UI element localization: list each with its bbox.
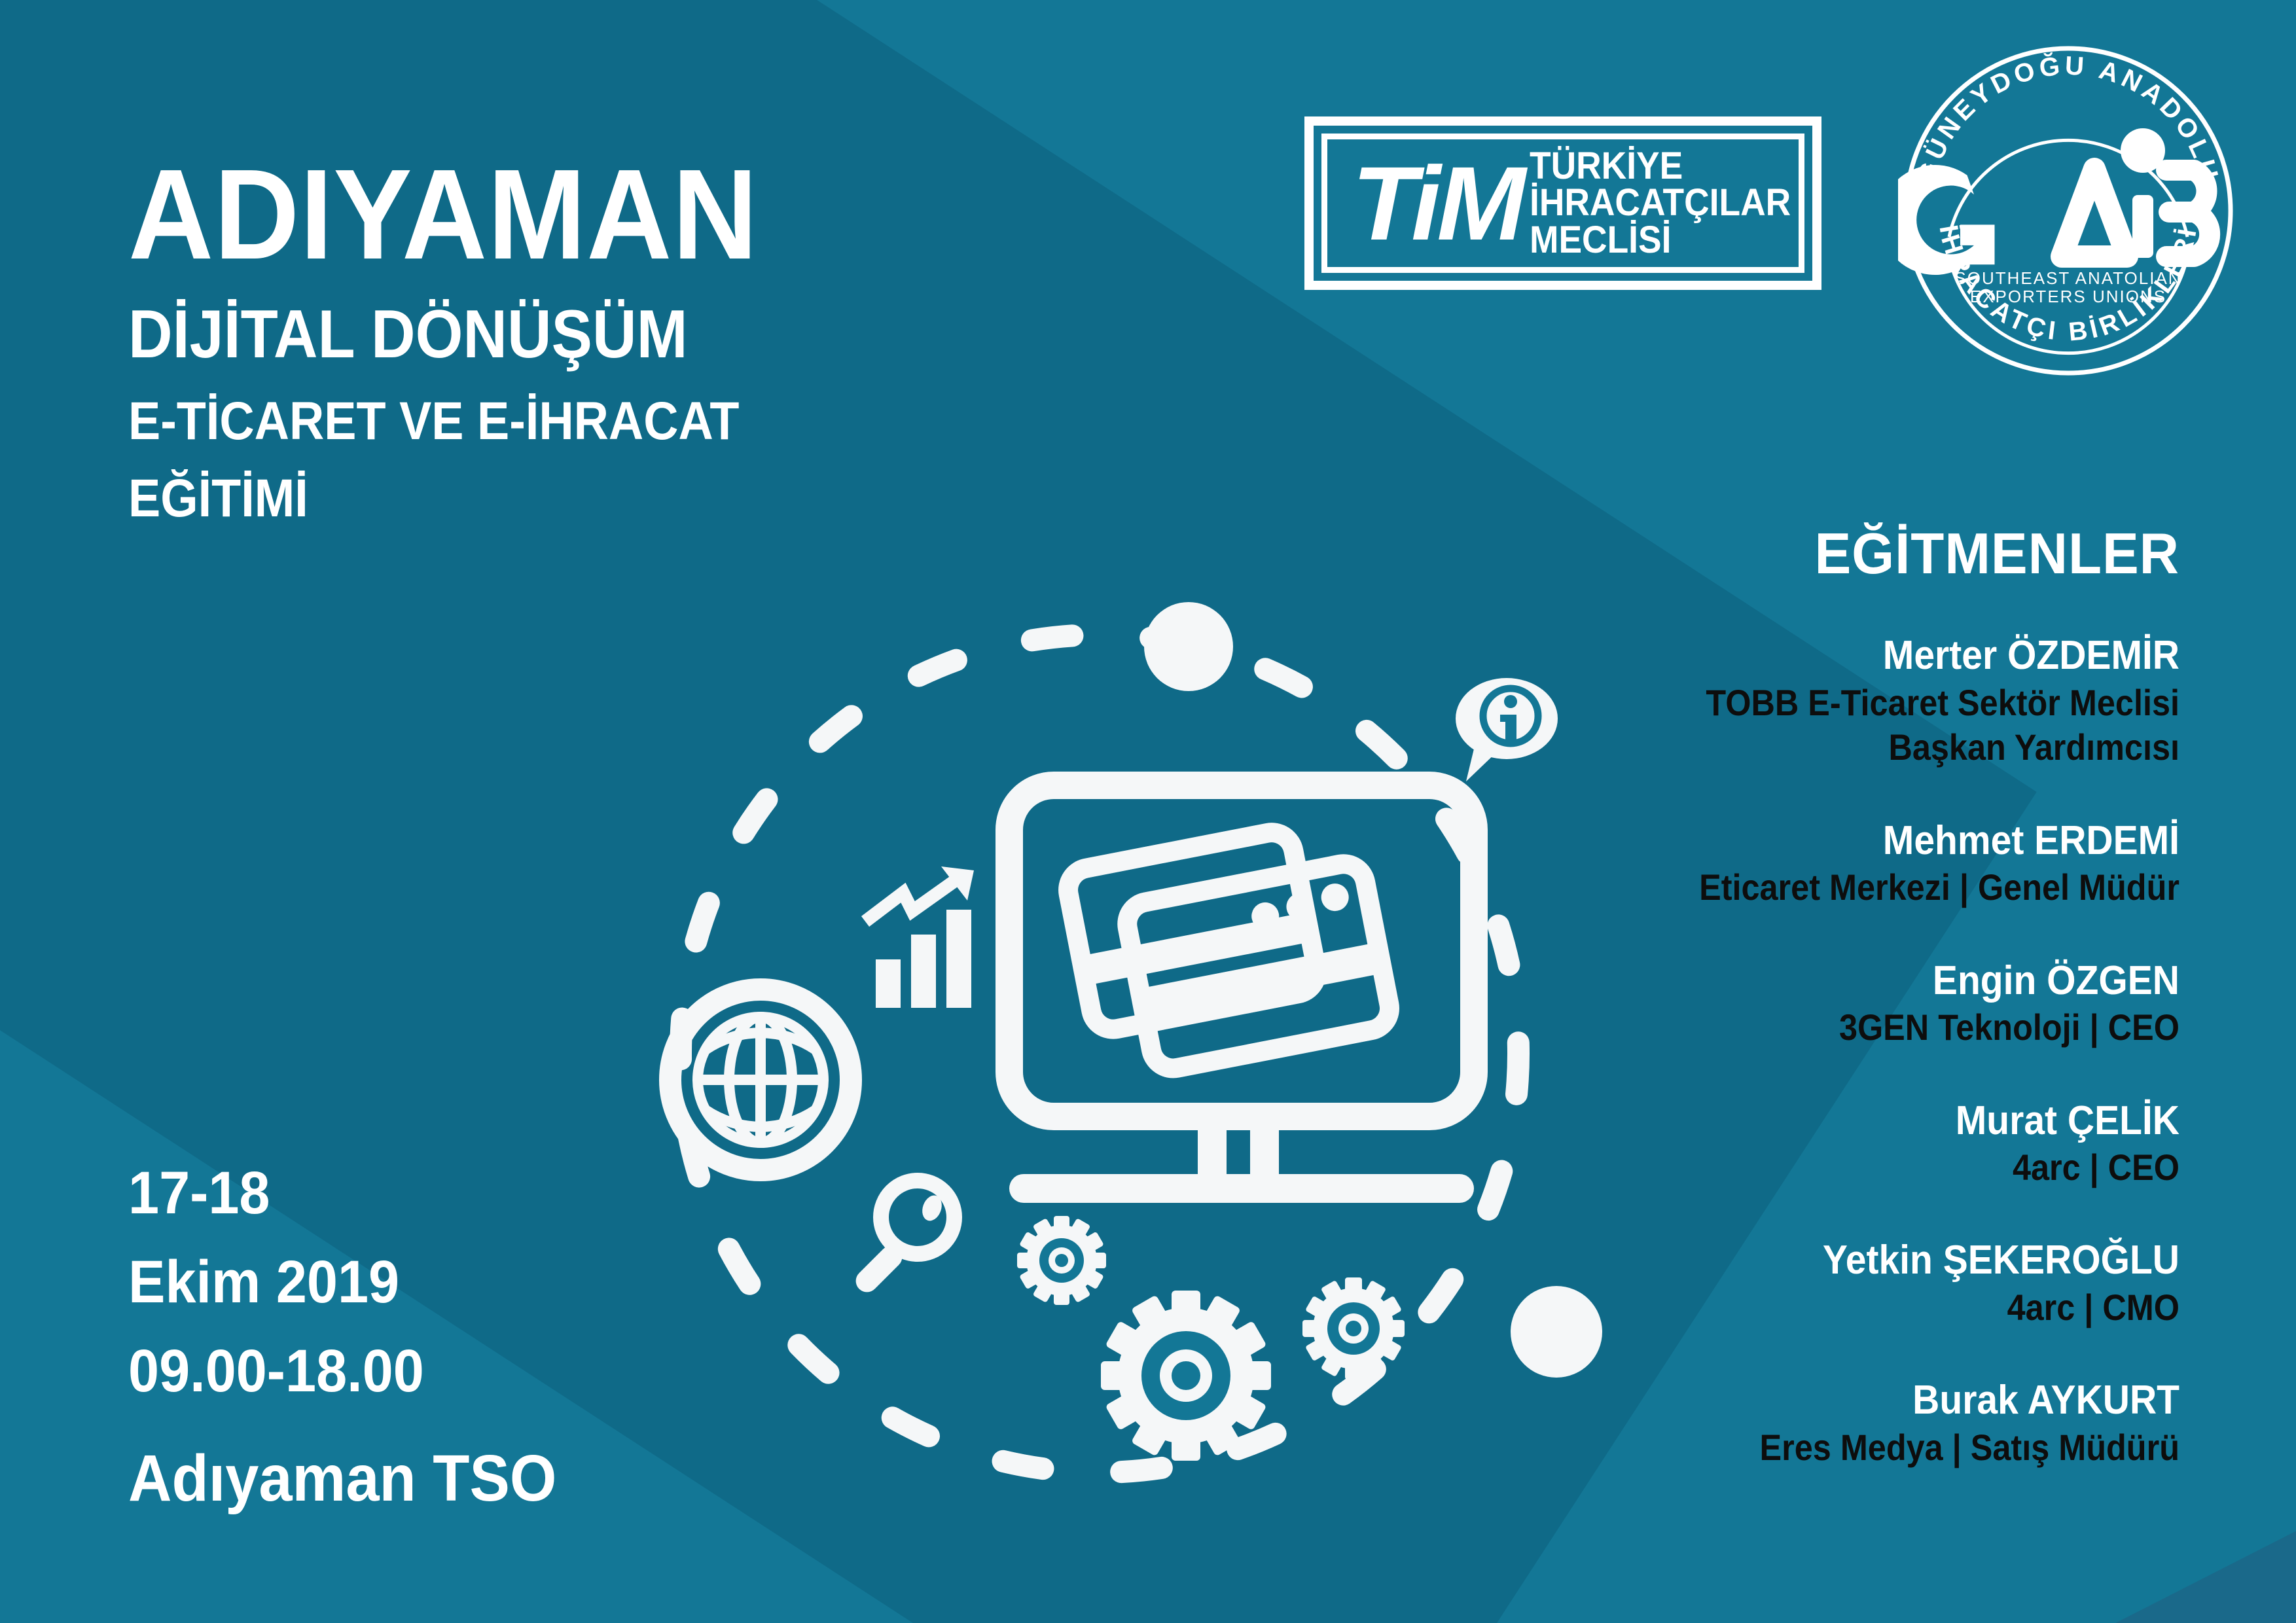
gear-small-icon	[1017, 1216, 1106, 1305]
trainer-role-line-1: 4arc | CEO	[1567, 1145, 2179, 1190]
trainers-section: EĞİTMENLER Merter ÖZDEMİR TOBB E-Ticaret…	[1499, 524, 2179, 1516]
headline-block: ADIYAMAN DİJİTAL DÖNÜŞÜM E-TİCARET VE E-…	[128, 152, 813, 526]
page-title: ADIYAMAN	[128, 152, 758, 277]
trainer-item: Mehmet ERDEMİ Eticaret Merkezi | Genel M…	[1499, 816, 2179, 910]
trainer-name: Engin ÖZGEN	[1553, 956, 2179, 1006]
event-days: 17-18	[128, 1149, 556, 1238]
globe-icon	[670, 990, 851, 1170]
tim-line-3: MECLİSİ	[1530, 222, 1791, 259]
trainer-name: Yetkin ŞEKEROĞLU	[1553, 1236, 2179, 1285]
illustration-block	[622, 556, 1604, 1538]
gaib-center-line-1: SOUTHEAST ANATOLIAN	[1954, 268, 2181, 288]
trainer-name: Murat ÇELİK	[1553, 1096, 2179, 1146]
trainer-item: Murat ÇELİK 4arc | CEO	[1499, 1096, 2179, 1190]
event-info-block: 17-18 Ekim 2019 09.00-18.00 Adıyaman TSO	[128, 1149, 594, 1527]
trainer-role-line-1: 3GEN Teknoloji | CEO	[1567, 1005, 2179, 1050]
trainer-item: Engin ÖZGEN 3GEN Teknoloji | CEO	[1499, 956, 2179, 1050]
trainer-role-line-1: Eres Medya | Satış Müdürü	[1567, 1425, 2179, 1470]
gaib-center-line-2: EXPORTERS UNIONS	[1970, 287, 2166, 306]
headline-subtitle-2: E-TİCARET VE E-İHRACAT	[128, 394, 745, 449]
event-poster: ADIYAMAN DİJİTAL DÖNÜŞÜM E-TİCARET VE E-…	[0, 0, 2296, 1623]
tim-wordmark-icon: TiM	[1352, 151, 1522, 256]
trainer-name: Burak AYKURT	[1553, 1376, 2179, 1425]
event-hours: 09.00-18.00	[128, 1327, 556, 1416]
trainer-role-line-1: Eticaret Merkezi | Genel Müdür	[1567, 865, 2179, 910]
trainer-role-line-1: TOBB E-Ticaret Sektör Meclisi	[1567, 681, 2179, 725]
growth-chart-icon	[865, 866, 974, 1008]
trainer-role-line-2: Başkan Yardımcısı	[1567, 725, 2179, 770]
event-venue: Adıyaman TSO	[128, 1430, 556, 1527]
trainers-heading: EĞİTMENLER	[1533, 524, 2179, 584]
trainer-role-line-1: 4arc | CMO	[1567, 1285, 2179, 1330]
gaib-logo: GÜNEYDOĞU ANADOLU İHRACATÇI BİRLİKLERİ S…	[1898, 41, 2238, 381]
tim-logo: TiM TÜRKİYE İHRACATÇILAR MECLİSİ	[1304, 116, 1821, 290]
tim-line-1: TÜRKİYE	[1530, 148, 1791, 185]
tim-logo-text: TÜRKİYE İHRACATÇILAR MECLİSİ	[1530, 148, 1814, 259]
headline-subtitle-1: DİJİTAL DÖNÜŞÜM	[128, 300, 745, 369]
gear-medium-icon	[1302, 1277, 1405, 1380]
trainer-item: Burak AYKURT Eres Medya | Satış Müdürü	[1499, 1376, 2179, 1470]
magnifier-icon	[852, 1181, 954, 1296]
trainer-item: Merter ÖZDEMİR TOBB E-Ticaret Sektör Mec…	[1499, 631, 2179, 770]
monitor-with-credit-cards-icon	[1009, 785, 1474, 1203]
dot-large-top-icon	[1144, 602, 1233, 691]
tim-logo-inner-frame: TiM TÜRKİYE İHRACATÇILAR MECLİSİ	[1321, 134, 1804, 273]
event-month-year: Ekim 2019	[128, 1238, 556, 1327]
headline-subtitle-3: EĞİTİMİ	[128, 471, 745, 526]
tim-line-2: İHRACATÇILAR	[1530, 185, 1791, 221]
trainer-item: Yetkin ŞEKEROĞLU 4arc | CMO	[1499, 1236, 2179, 1330]
trainer-name: Merter ÖZDEMİR	[1553, 631, 2179, 681]
trainer-name: Mehmet ERDEMİ	[1553, 816, 2179, 866]
